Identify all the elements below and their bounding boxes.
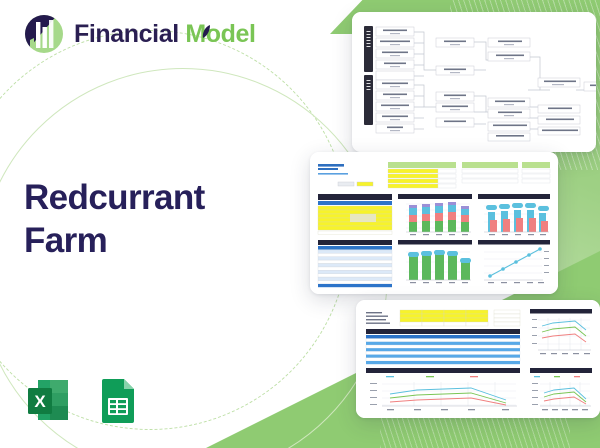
page-title: Redcurrant Farm xyxy=(24,176,205,263)
svg-text:X: X xyxy=(34,392,46,411)
structure-diagram-canvas xyxy=(352,12,596,152)
google-sheets-icon[interactable] xyxy=(92,374,144,426)
circular-bar-chart-logo-icon xyxy=(24,14,64,54)
slide-canvas: Financial Model Redcurrant Farm xyxy=(0,0,600,448)
analysis-canvas xyxy=(356,300,600,418)
brand-block: Financial Model xyxy=(24,14,324,54)
preview-card-structure-diagram[interactable] xyxy=(352,12,596,152)
brand-name: Financial Model xyxy=(74,20,256,49)
page-title-line1: Redcurrant xyxy=(24,178,205,217)
brand-name-part1: Financial xyxy=(74,20,179,48)
page-title-line2: Farm xyxy=(24,221,107,260)
dashboard-canvas xyxy=(310,152,558,294)
excel-icon[interactable]: X xyxy=(22,374,74,426)
preview-card-analysis[interactable] xyxy=(356,300,600,418)
leaf-accent-icon xyxy=(202,25,211,38)
preview-card-dashboard[interactable] xyxy=(310,152,558,294)
brand-lockup: Financial Model xyxy=(24,14,324,54)
brand-name-part2: Model xyxy=(185,20,255,48)
file-format-icons: X xyxy=(22,374,144,426)
